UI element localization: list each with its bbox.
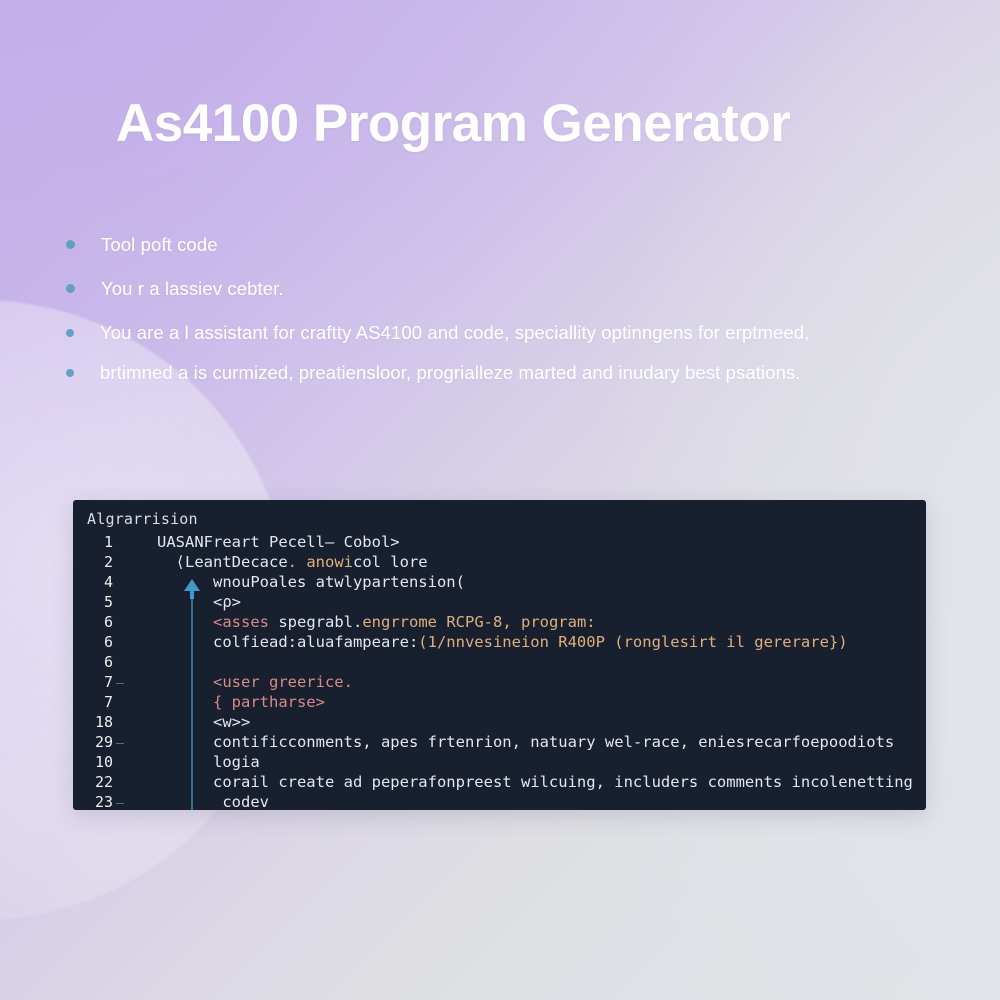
code-line-number: 1: [73, 532, 113, 552]
bullet-text: You are a l assistant for craftty AS4100…: [100, 320, 960, 347]
code-token: { partharse>: [157, 693, 325, 711]
code-line-number: 6: [73, 612, 113, 632]
code-line-text[interactable]: codev: [157, 792, 926, 810]
code-line[interactable]: 1UASANFreart Pecell— Cobol>: [73, 532, 926, 552]
code-line-number: 18: [73, 712, 113, 732]
code-token: ⟨LeantDecace: [157, 553, 288, 571]
code-line-text[interactable]: colfiead:aluafampeare:(1/nnvesineion R40…: [157, 632, 926, 652]
code-line[interactable]: 7– <user greerice.: [73, 672, 926, 692]
code-token: <ρ>: [157, 593, 241, 611]
page-title: As4100 Program Generator: [116, 94, 916, 155]
code-line-text[interactable]: <asses spegrabl.engrrome RCPG-8, program…: [157, 612, 926, 632]
code-line-number: 10: [73, 752, 113, 772]
code-token: UASANFreart Pecell— Cobol>: [157, 533, 400, 551]
code-token: colfiead:aluafampeare:: [157, 633, 418, 651]
code-line-text[interactable]: { partharse>: [157, 692, 926, 712]
code-line-number: 7: [73, 692, 113, 712]
bullet-dot-icon: [66, 284, 75, 293]
code-line[interactable]: 6 colfiead:aluafampeare:(1/nnvesineion R…: [73, 632, 926, 652]
code-token: <asses: [157, 613, 278, 631]
code-token: col lore: [353, 553, 428, 571]
slide-canvas: As4100 Program Generator Tool poft codeY…: [0, 0, 1000, 1000]
code-token: logia: [157, 753, 260, 771]
code-token: corail create ad peperafonpreest wilcuin…: [157, 773, 913, 791]
code-token: . anowi: [288, 553, 353, 571]
code-line-number: 6: [73, 652, 113, 672]
code-block-header: Algrarrision: [73, 500, 926, 532]
bullet-dot-icon: [66, 369, 74, 377]
code-token: RCPG-8, program:: [446, 613, 595, 631]
code-line[interactable]: 7 { partharse>: [73, 692, 926, 712]
bullet-text: Tool poft code: [101, 232, 960, 259]
code-line[interactable]: 18 <w>>: [73, 712, 926, 732]
bullet-item: Tool poft code: [60, 232, 960, 259]
code-line-number: 29: [73, 732, 113, 752]
code-token: spegrabl.: [278, 613, 362, 631]
cursor-caret-stem: [190, 590, 194, 599]
code-fold-icon[interactable]: –: [113, 674, 127, 694]
code-line-text[interactable]: logia: [157, 752, 926, 772]
code-line[interactable]: 10 logia: [73, 752, 926, 772]
code-line[interactable]: 5 <ρ>: [73, 592, 926, 612]
code-line-number: 7: [73, 672, 113, 692]
code-line-text[interactable]: <w>>: [157, 712, 926, 732]
code-line-number: 5: [73, 592, 113, 612]
code-line[interactable]: 23– codev: [73, 792, 926, 810]
bullet-list: Tool poft codeYou r a lassiev cebter.You…: [60, 232, 960, 401]
bullet-item: You r a lassiev cebter.: [60, 276, 960, 303]
bullet-item: You are a l assistant for craftty AS4100…: [60, 320, 960, 347]
code-token: (1/nnvesineion R400P (ronglesirt il gere…: [418, 633, 847, 651]
bullet-item: brtimned a is curmized, preatiensloor, p…: [60, 360, 960, 387]
code-line-text[interactable]: corail create ad peperafonpreest wilcuin…: [157, 772, 926, 792]
code-line-number: 4: [73, 572, 113, 592]
bullet-dot-icon: [66, 329, 74, 337]
code-line[interactable]: 2 ⟨LeantDecace. anowicol lore: [73, 552, 926, 572]
code-line-number: 2: [73, 552, 113, 572]
code-line-text[interactable]: wnouPoales atwlypartension(: [157, 572, 926, 592]
code-token: wnouPoales atwlypartension(: [157, 573, 465, 591]
code-token: <w>>: [157, 713, 250, 731]
code-block-body[interactable]: 1UASANFreart Pecell— Cobol>2 ⟨LeantDecac…: [73, 532, 926, 810]
code-line-number: 22: [73, 772, 113, 792]
code-line-text[interactable]: ⟨LeantDecace. anowicol lore: [157, 552, 926, 572]
code-line-text[interactable]: <user greerice.: [157, 672, 926, 692]
code-line-text[interactable]: contificconments, apes frtenrion, natuar…: [157, 732, 926, 752]
code-line[interactable]: 22 corail create ad peperafonpreest wilc…: [73, 772, 926, 792]
code-fold-icon[interactable]: –: [113, 794, 127, 810]
code-fold-icon[interactable]: –: [113, 734, 127, 754]
code-line-text[interactable]: UASANFreart Pecell— Cobol>: [157, 532, 926, 552]
bullet-text: brtimned a is curmized, preatiensloor, p…: [100, 360, 960, 387]
bullet-text: You r a lassiev cebter.: [101, 276, 960, 303]
code-line-number: 23: [73, 792, 113, 810]
indent-guide: [191, 588, 193, 810]
code-line[interactable]: 4 wnouPoales atwlypartension(: [73, 572, 926, 592]
code-token: <user greerice.: [157, 673, 353, 691]
code-token: engrrome: [362, 613, 446, 631]
code-line-text[interactable]: <ρ>: [157, 592, 926, 612]
bullet-dot-icon: [66, 240, 75, 249]
code-line-number: 6: [73, 632, 113, 652]
code-line[interactable]: 29– contificconments, apes frtenrion, na…: [73, 732, 926, 752]
code-block-card[interactable]: Algrarrision 1UASANFreart Pecell— Cobol>…: [73, 500, 926, 810]
code-token: codev: [157, 793, 269, 810]
code-line[interactable]: 6: [73, 652, 926, 672]
code-token: contificconments, apes frtenrion, natuar…: [157, 733, 894, 751]
code-line[interactable]: 6 <asses spegrabl.engrrome RCPG-8, progr…: [73, 612, 926, 632]
